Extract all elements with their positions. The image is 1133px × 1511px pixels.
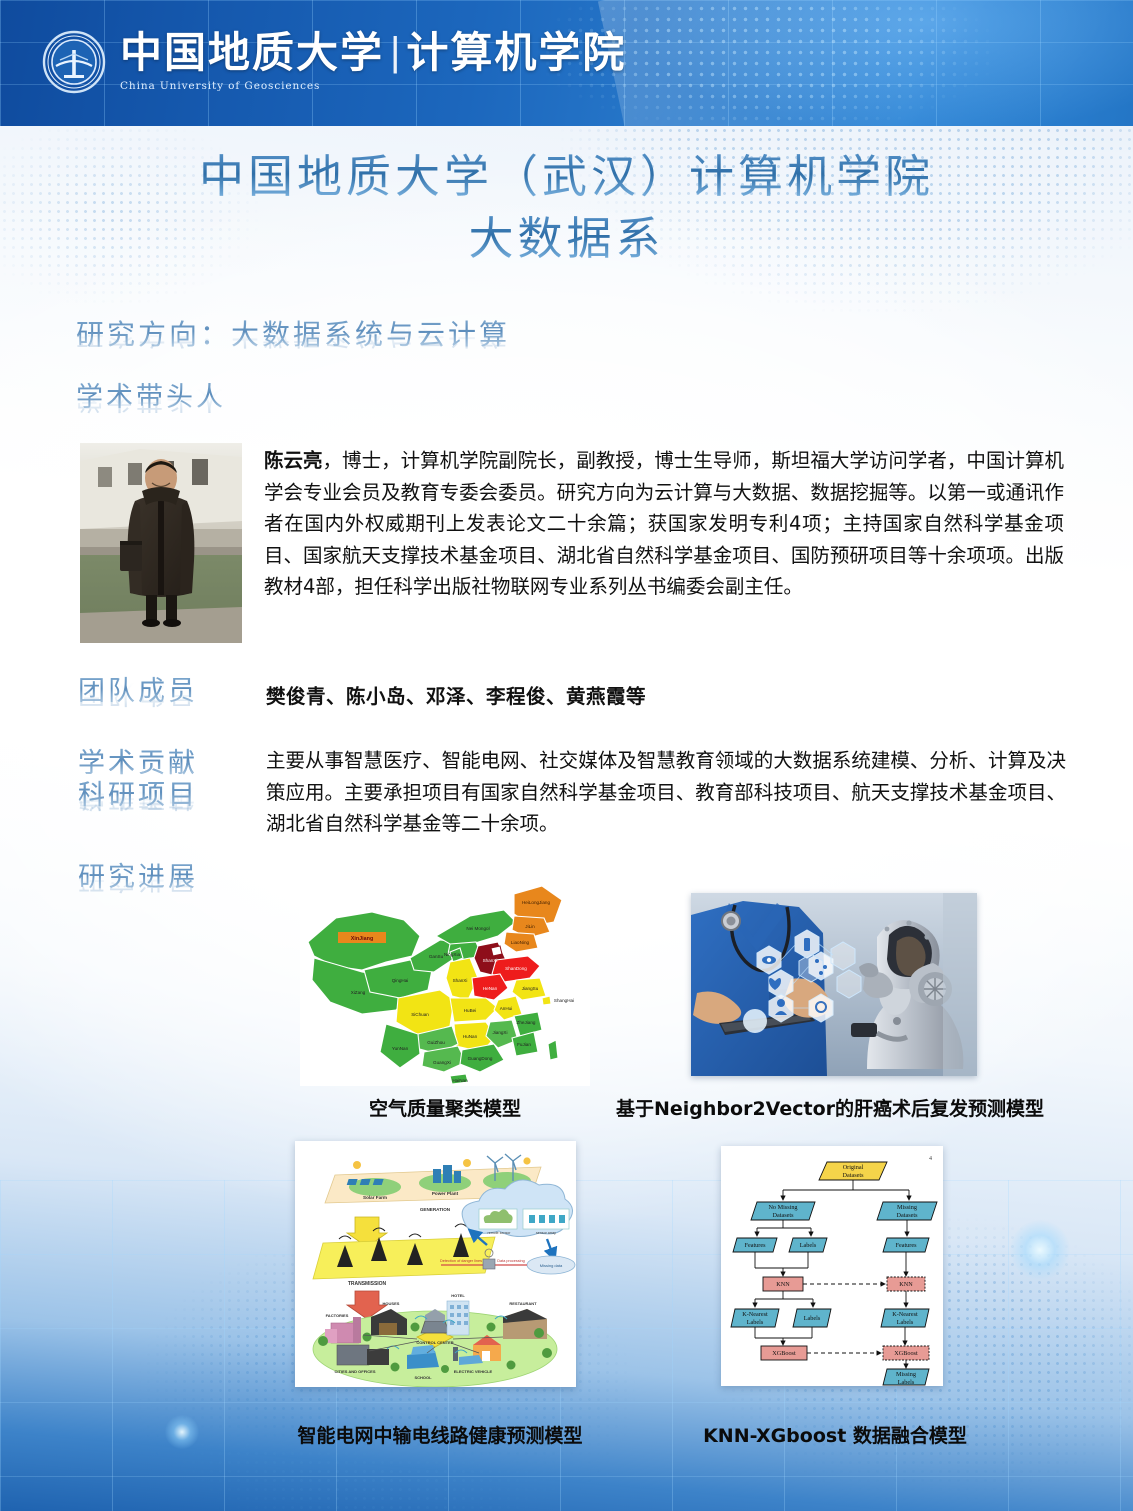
svg-text:Labels: Labels [898,1379,915,1386]
svg-text:CONTROL CENTER: CONTROL CENTER [416,1340,453,1345]
svg-text:Labels: Labels [747,1319,764,1326]
brand-separator: | [390,32,400,72]
svg-text:Datasets: Datasets [773,1212,795,1219]
svg-text:GuangXi: GuangXi [433,1060,451,1065]
svg-text:Nei Mongol: Nei Mongol [466,926,489,931]
svg-text:Detection of danger lines: Detection of danger lines [440,1259,482,1263]
svg-text:AnHui: AnHui [500,1006,513,1011]
leader-bio-body: ，博士，计算机学院副院长，副教授，博士生导师，斯坦福大学访问学者，中国计算机学会… [264,449,1064,598]
svg-text:HeiLongJiang: HeiLongJiang [522,900,551,905]
svg-text:GuiZhou: GuiZhou [427,1040,445,1045]
section-label-research-direction: 研究方向：大数据系统与云计算 [76,318,510,351]
leader-portrait-photo [80,443,242,643]
svg-text:Labels: Labels [897,1319,914,1326]
svg-text:HaiNan: HaiNan [452,1078,468,1083]
school-name-cn: 计算机学院 [406,32,626,74]
svg-text:HeNan: HeNan [483,986,498,991]
svg-text:KNN: KNN [899,1281,913,1288]
svg-text:K-Nearest: K-Nearest [742,1311,768,1318]
svg-text:XiZang: XiZang [351,990,366,995]
header-band: 中国地质大学 China University of Geosciences |… [0,0,1133,126]
svg-text:Power Plant: Power Plant [432,1191,459,1196]
svg-text:FuJian: FuJian [517,1042,531,1047]
poster-title-block: 中国地质大学（武汉）计算机学院 大数据系 [0,146,1133,270]
leader-name: 陈云亮 [264,449,323,472]
svg-text:4: 4 [929,1156,932,1162]
svg-text:ZheJiang: ZheJiang [517,1020,536,1025]
svg-text:Data processing: Data processing [497,1259,524,1263]
svg-text:FACTORIES: FACTORIES [326,1313,349,1318]
svg-text:QingHai: QingHai [392,978,409,983]
leader-bio-text: 陈云亮，博士，计算机学院副院长，副教授，博士生导师，斯坦福大学访问学者，中国计算… [264,445,1064,603]
contribution-label-line2: 科研项目 [78,780,198,812]
glow-dot [1010,1220,1070,1280]
svg-text:YunNan: YunNan [392,1046,409,1051]
svg-text:LiaoNing: LiaoNing [511,940,530,945]
svg-text:K-Nearest: K-Nearest [892,1311,918,1318]
svg-text:Features: Features [896,1242,918,1249]
university-logo-block: 中国地质大学 China University of Geosciences |… [42,30,626,94]
svg-text:JiLin: JiLin [525,924,535,929]
academic-contribution-text: 主要从事智慧医疗、智能电网、社交媒体及智慧教育领域的大数据系统建模、分析、计算及… [266,745,1066,840]
team-members-text: 樊俊青、陈小岛、邓泽、李程俊、黄燕霞等 [266,680,646,709]
svg-text:CITIES AND OFFICES: CITIES AND OFFICES [335,1369,376,1374]
svg-text:Datasets: Datasets [843,1172,865,1179]
svg-text:RESTAURANT: RESTAURANT [509,1301,537,1306]
svg-text:TRANSMISSION: TRANSMISSION [348,1281,387,1287]
svg-text:remote sensor: remote sensor [488,1231,512,1235]
university-seal-icon [42,30,106,94]
svg-text:NingXia: NingXia [444,952,461,957]
poster-canvas: 中国地质大学 China University of Geosciences |… [0,0,1133,1511]
glow-dot [165,1415,199,1449]
figure-liver-cancer-photo [691,893,977,1076]
figure-caption-knn-xgboost: KNN-XGboost 数据融合模型 [660,1421,1010,1448]
svg-text:SiChuan: SiChuan [411,1012,429,1017]
svg-text:Solar Farm: Solar Farm [363,1195,387,1200]
svg-text:HOTEL: HOTEL [451,1293,465,1298]
svg-text:Labels: Labels [804,1315,821,1322]
section-label-academic-leader: 学术带头人 [76,382,226,414]
svg-text:GENERATION: GENERATION [420,1207,451,1212]
svg-text:Missing: Missing [896,1371,916,1378]
svg-text:ELECTRIC VEHICLE: ELECTRIC VEHICLE [454,1369,493,1374]
svg-text:JiangSu: JiangSu [522,986,539,991]
section-label-team-members: 团队成员 [78,676,198,708]
svg-text:HOUSES: HOUSES [383,1301,400,1306]
figure-caption-air-quality: 空气质量聚类模型 [300,1094,590,1121]
svg-text:JiangXi: JiangXi [492,1030,507,1035]
figure-knn-xgboost-flowchart: 4 OriginalDatasets No MissingDatasets Mi… [721,1146,943,1386]
svg-text:XGBoost: XGBoost [772,1350,796,1357]
svg-text:Missing: Missing [897,1204,917,1211]
contribution-label-line1: 学术贡献 [78,748,198,780]
svg-text:Datasets: Datasets [897,1212,919,1219]
svg-text:GuangDong: GuangDong [468,1056,493,1061]
figure-smart-grid-diagram: Solar Farm Power Plant Wind Farm GENERAT… [295,1141,576,1387]
institution-name-cn: 中国地质大学 [120,32,384,74]
svg-text:Missing data: Missing data [540,1263,563,1268]
svg-text:ShanXi: ShanXi [453,978,468,983]
svg-text:Original: Original [843,1164,864,1171]
section-label-research-progress: 研究进展 [78,862,198,894]
figure-air-quality-map: XinJiang XiZang QingHai GanSu Nei Mongol… [300,874,590,1086]
figure-caption-liver-cancer: 基于Neighbor2Vector的肝癌术后复发预测模型 [580,1094,1080,1121]
svg-text:ShanDong: ShanDong [505,966,527,971]
svg-text:XGBoost: XGBoost [894,1350,918,1357]
section-label-academic-contribution: 学术贡献 科研项目 [78,748,198,812]
poster-title-line2: 大数据系 [0,208,1133,270]
svg-text:No Missing: No Missing [768,1204,797,1211]
svg-text:HuNan: HuNan [463,1034,478,1039]
svg-text:SCHOOL: SCHOOL [414,1375,432,1380]
institution-name-en: China University of Geosciences [120,80,384,92]
header-sheen [598,0,1133,126]
svg-text:Features: Features [745,1242,767,1249]
svg-text:GanSu: GanSu [429,954,444,959]
svg-text:HuBei: HuBei [464,1008,477,1013]
svg-text:XinJiang: XinJiang [351,936,373,942]
svg-text:ShangHai: ShangHai [554,998,574,1003]
svg-text:Labels: Labels [800,1242,817,1249]
poster-title-line1: 中国地质大学（武汉）计算机学院 [0,146,1133,208]
svg-text:KNN: KNN [776,1281,790,1288]
svg-text:ShanXi: ShanXi [483,958,498,963]
figure-caption-smart-grid: 智能电网中输电线路健康预测模型 [250,1421,630,1448]
svg-text:sensor array: sensor array [536,1231,556,1235]
